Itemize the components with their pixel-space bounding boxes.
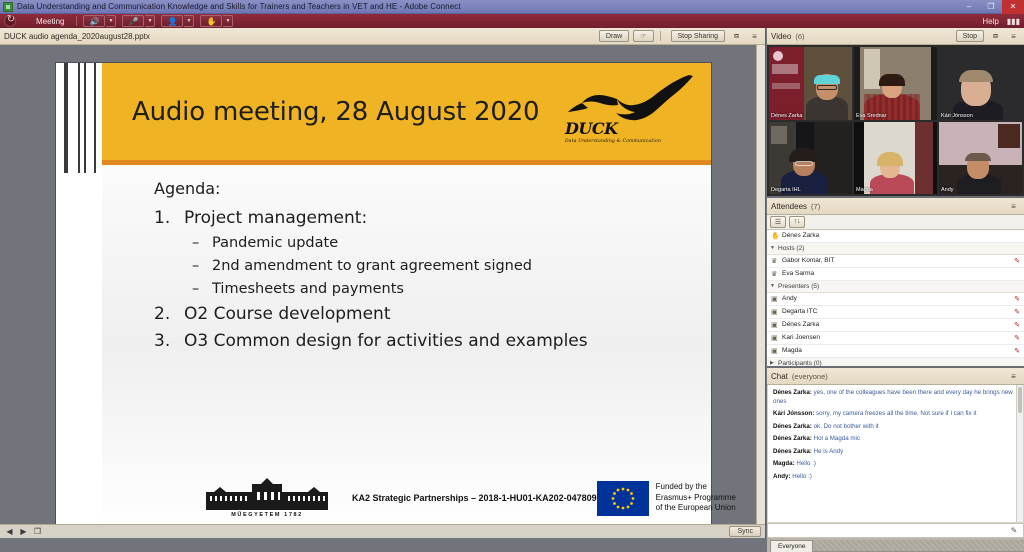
slide-title-band: Audio meeting, 28 August 2020 DUCK Data …: [102, 63, 711, 160]
stop-sharing-button[interactable]: Stop Sharing: [671, 30, 725, 42]
chat-pod-menu-icon[interactable]: ≡: [1007, 370, 1020, 382]
chat-pod-title: Chat: [771, 372, 788, 381]
chat-message-sender: Dénes Zarka:: [773, 423, 812, 430]
presenter-icon: ▣: [771, 321, 782, 329]
video-tile[interactable]: Degarta IHL: [769, 122, 852, 195]
chat-message-sender: Dénes Zarka:: [773, 435, 812, 442]
pen-icon: ✎: [1014, 347, 1020, 355]
attendee-row[interactable]: ♛ Gábor Komar, BIT ✎: [767, 255, 1024, 268]
sync-button[interactable]: Sync: [729, 526, 761, 537]
attendees-toolbar: ☰ ↑↓: [767, 215, 1024, 230]
speaker-volume-icon[interactable]: 🔊: [83, 15, 105, 27]
attendee-sort-icon[interactable]: ↑↓: [789, 216, 805, 228]
pen-icon: ✎: [1014, 295, 1020, 303]
chat-message-sender: Magda:: [773, 460, 795, 467]
slide-body: Agenda: 1. Project management: – Pandemi…: [102, 165, 711, 524]
slide-headline: Audio meeting, 28 August 2020: [132, 97, 539, 127]
close-button[interactable]: ✕: [1002, 0, 1024, 14]
presentation-slide[interactable]: Audio meeting, 28 August 2020 DUCK Data …: [56, 63, 711, 524]
chat-tab-everyone[interactable]: Everyone: [770, 540, 813, 552]
attendee-name: Andy: [782, 295, 797, 302]
agenda-item-text: O2 Course development: [184, 304, 391, 324]
chat-tab-bar: Everyone: [767, 538, 1024, 552]
attendee-self-row[interactable]: ✋ Dénes Zarka: [767, 230, 1024, 243]
agenda-item-text: O3 Common design for activities and exam…: [184, 331, 588, 351]
agenda-sublist: – Pandemic update – 2nd amendment to gra…: [192, 235, 711, 297]
eu-flag-icon: [597, 481, 649, 516]
share-pod-menu-icon[interactable]: ≡: [748, 30, 761, 42]
presenter-icon: ▣: [771, 295, 782, 303]
share-pod-scrollbar[interactable]: [756, 45, 765, 524]
video-pod-menu-icon[interactable]: ≡: [1007, 30, 1020, 42]
connection-signal-icon: ▮▮▮: [1007, 17, 1020, 26]
eu-funding-line-1: Funded by the: [656, 482, 736, 493]
slide-footer: MŰEGYETEM 1782 KA2 Strategic Partnership…: [148, 476, 705, 520]
window-title-bar: Data Understanding and Communication Kno…: [0, 0, 1024, 14]
dash-icon: –: [192, 281, 212, 297]
chat-message-list[interactable]: Dénes Zarka: yes, one of the colleagues …: [767, 385, 1024, 523]
attendee-group-participants[interactable]: ▶ Participants (0): [767, 358, 1024, 366]
attendee-name: Eva Sarma: [782, 270, 814, 277]
attendee-group-label: Hosts (2): [778, 245, 804, 252]
webcam-chevron-down-icon[interactable]: ▼: [184, 15, 194, 27]
slide-notes-icon[interactable]: ❐: [32, 526, 43, 537]
send-icon[interactable]: ✎: [1008, 526, 1020, 535]
agenda-subitem-text: Timesheets and payments: [212, 281, 404, 297]
share-pod-body: Audio meeting, 28 August 2020 DUCK Data …: [0, 45, 765, 524]
attendee-row[interactable]: ♛ Eva Sarma: [767, 268, 1024, 281]
chat-message: Dénes Zarka: He is Andy: [773, 448, 1018, 457]
share-pod-header: DUCK audio agenda_2020august28.pptx Draw…: [0, 28, 765, 45]
agenda-item-number: 2.: [154, 304, 184, 324]
header-divider: [660, 31, 661, 41]
attendees-count: (7): [811, 202, 820, 211]
chevron-down-icon: ▼: [770, 245, 778, 251]
attendee-row[interactable]: ▣ Andy ✎: [767, 293, 1024, 306]
draw-button[interactable]: Draw: [599, 30, 629, 42]
agenda-list: 1. Project management: – Pandemic update…: [154, 208, 711, 351]
duck-wordmark: DUCK: [565, 119, 617, 138]
video-tile-name: Eva Srednar: [856, 113, 887, 119]
video-tile-name: Degarta IHL: [771, 187, 801, 193]
meeting-stage: DUCK audio agenda_2020august28.pptx Draw…: [0, 28, 1024, 552]
chat-message-sender: Andy:: [773, 473, 791, 480]
duck-logo: DUCK Data Understanding & Communication: [557, 69, 697, 155]
minimize-button[interactable]: –: [958, 0, 980, 14]
video-tile[interactable]: Eva Srednar: [854, 47, 937, 120]
video-tile-name: Andy: [941, 187, 954, 193]
bme-wordmark: MŰEGYETEM 1782: [204, 512, 330, 518]
agenda-item-number: 3.: [154, 331, 184, 351]
agenda-subitem-text: 2nd amendment to grant agreement signed: [212, 258, 532, 274]
chat-message-sender: Dénes Zarka:: [773, 448, 812, 455]
window-controls: – ❐ ✕: [958, 0, 1024, 14]
share-pod: DUCK audio agenda_2020august28.pptx Draw…: [0, 28, 766, 538]
raise-hand-icon: ✋: [771, 232, 782, 240]
prev-slide-icon[interactable]: ◀: [4, 526, 15, 537]
fullscreen-icon[interactable]: ⧈: [730, 30, 743, 42]
presenter-icon: ▣: [771, 347, 782, 355]
help-link[interactable]: Help: [982, 17, 998, 26]
duck-tagline: Data Understanding & Communication: [565, 139, 661, 144]
agenda-item-number: 1.: [154, 208, 184, 228]
host-icon: ♛: [771, 270, 782, 278]
chat-message-text: Hol a Magda mic: [812, 435, 860, 442]
agenda-subitem-text: Pandemic update: [212, 235, 338, 251]
slide-accent-bars: [56, 63, 102, 173]
chat-message-sender: Dénes Zarka:: [773, 389, 812, 396]
pen-icon: ✎: [1014, 308, 1020, 316]
share-pod-footer: ◀ ▶ ❐ Sync: [0, 524, 765, 538]
chevron-down-icon: ▼: [770, 283, 778, 289]
chat-message: Dénes Zarka: yes, one of the colleagues …: [773, 389, 1018, 406]
next-slide-icon[interactable]: ▶: [18, 526, 29, 537]
attendee-group-label: Participants (0): [778, 360, 822, 366]
eu-funding-text: Funded by the Erasmus+ Programme of the …: [656, 482, 736, 514]
chat-pod: Chat (everyone) ≡ Dénes Zarka: yes, one …: [767, 368, 1024, 552]
chat-input[interactable]: [771, 525, 1008, 536]
agenda-item-text: Project management:: [184, 208, 367, 228]
video-pod: Video (6) Stop ⧈ ≡ Dénes Z: [767, 28, 1024, 198]
video-tile-name: Kári Jónsson: [941, 113, 973, 119]
eu-funding-line-3: of the European Union: [656, 503, 736, 514]
chat-message-text: ok. Do not bother with it: [812, 423, 879, 430]
agenda-subitem: – 2nd amendment to grant agreement signe…: [192, 258, 711, 274]
chat-message-text: Hello :): [795, 460, 816, 467]
dash-icon: –: [192, 258, 212, 274]
chat-message: Magda: Hello :): [773, 460, 1018, 469]
chat-tab-filler: [813, 540, 1024, 552]
project-code: KA2 Strategic Partnerships – 2018-1-HU01…: [352, 493, 597, 503]
agenda-label: Agenda:: [154, 179, 711, 198]
agenda-item: 3. O3 Common design for activities and e…: [154, 331, 711, 351]
attendees-list[interactable]: ✋ Dénes Zarka ▼ Hosts (2) ♛ Gábor Komar,…: [767, 230, 1024, 366]
attendee-row[interactable]: ▣ Magda ✎: [767, 345, 1024, 358]
host-icon: ♛: [771, 257, 782, 265]
chat-pod-header: Chat (everyone) ≡: [767, 368, 1024, 385]
microphone-chevron-down-icon[interactable]: ▼: [145, 15, 155, 27]
video-tile-name: Dénes Zarka: [771, 113, 803, 119]
attendee-row[interactable]: ▣ Kari Joensen ✎: [767, 332, 1024, 345]
menu-item-meeting[interactable]: Meeting: [30, 17, 70, 26]
video-tile[interactable]: Kári Jónsson: [939, 47, 1022, 120]
bme-building-icon: MŰEGYETEM 1782: [204, 478, 330, 518]
agenda-item: 2. O2 Course development: [154, 304, 711, 324]
stop-webcam-button[interactable]: Stop: [956, 30, 984, 42]
chat-message-text: Hello :): [791, 473, 812, 480]
agenda-subitem: – Timesheets and payments: [192, 281, 711, 297]
pen-icon: ✎: [1014, 334, 1020, 342]
connect-menu-bar: Meeting 🔊 ▼ 🎤 ▼ 👤 ▼ ✋ ▼ Help ▮▮▮: [0, 14, 1024, 28]
right-pod-column: Video (6) Stop ⧈ ≡ Dénes Z: [767, 28, 1024, 552]
maximize-button[interactable]: ❐: [980, 0, 1002, 14]
video-pod-count: (6): [795, 32, 804, 41]
video-tile[interactable]: Magda: [854, 122, 937, 195]
share-pod-title: DUCK audio agenda_2020august28.pptx: [4, 32, 150, 41]
pen-icon: ✎: [1014, 257, 1020, 265]
agenda-subitem: – Pandemic update: [192, 235, 711, 251]
pen-icon: ✎: [1014, 321, 1020, 329]
chat-scrollbar[interactable]: [1016, 385, 1023, 522]
raise-hand-icon[interactable]: ✋: [200, 15, 222, 27]
attendee-name: Dénes Zarka: [782, 232, 819, 239]
video-tile-name: Magda: [856, 187, 873, 193]
menu-bar-right: Help ▮▮▮: [974, 17, 1024, 26]
video-tile-grid: Dénes Zarka Eva Srednar Kári Jón: [767, 45, 1024, 196]
attendee-view-icon[interactable]: ☰: [770, 216, 786, 228]
attendee-row[interactable]: ▣ Degarta ITC ✎: [767, 306, 1024, 319]
chat-message: Andy: Hello :): [773, 473, 1018, 482]
attendees-pod: Attendees (7) ≡ ☰ ↑↓ ✋ Dénes Zarka ▼ Hos…: [767, 198, 1024, 368]
attendee-name: Magda: [782, 347, 802, 354]
chat-message-text: sorry, my camera freezes all the time. N…: [814, 410, 976, 417]
attendee-name: Degarta ITC: [782, 308, 817, 315]
attendee-name: Gábor Komar, BIT: [782, 257, 834, 264]
video-tile[interactable]: Dénes Zarka: [769, 47, 852, 120]
attendee-group-presenters[interactable]: ▼ Presenters (5): [767, 281, 1024, 293]
video-pod-title: Video: [771, 32, 791, 41]
app-icon: [3, 2, 13, 12]
microphone-icon[interactable]: 🎤: [122, 15, 144, 27]
menu-divider: [76, 16, 77, 26]
speaker-chevron-down-icon[interactable]: ▼: [106, 15, 116, 27]
raise-hand-chevron-down-icon[interactable]: ▼: [223, 15, 233, 27]
presenter-icon: ▣: [771, 334, 782, 342]
video-tile[interactable]: Andy: [939, 122, 1022, 195]
dash-icon: –: [192, 235, 212, 251]
agenda-item: 1. Project management:: [154, 208, 711, 228]
chat-message: Dénes Zarka: ok. Do not bother with it: [773, 423, 1018, 432]
attendee-group-label: Presenters (5): [778, 283, 819, 290]
pointer-icon[interactable]: ☞: [633, 30, 653, 42]
eu-funding-line-2: Erasmus+ Programme: [656, 493, 736, 504]
chevron-right-icon: ▶: [770, 360, 778, 366]
attendee-name: Dénes Zarka: [782, 321, 819, 328]
attendees-pod-title: Attendees: [771, 202, 807, 211]
attendees-pod-menu-icon[interactable]: ≡: [1007, 200, 1020, 212]
attendee-name: Kari Joensen: [782, 334, 820, 341]
window-title: Data Understanding and Communication Kno…: [17, 2, 461, 11]
chat-input-row[interactable]: ✎: [767, 523, 1024, 538]
chat-message-sender: Kári Jónsson:: [773, 410, 814, 417]
eu-funding-block: Funded by the Erasmus+ Programme of the …: [597, 481, 736, 516]
adobe-connect-logo-icon: [4, 15, 16, 27]
video-fullscreen-icon[interactable]: ⧈: [989, 30, 1002, 42]
chat-message: Kári Jónsson: sorry, my camera freezes a…: [773, 410, 1018, 419]
presenter-icon: ▣: [771, 308, 782, 316]
attendees-pod-header: Attendees (7) ≡: [767, 198, 1024, 215]
webcam-icon[interactable]: 👤: [161, 15, 183, 27]
chat-scope: (everyone): [792, 372, 828, 381]
video-pod-header: Video (6) Stop ⧈ ≡: [767, 28, 1024, 45]
attendee-group-hosts[interactable]: ▼ Hosts (2): [767, 243, 1024, 255]
attendee-row[interactable]: ▣ Dénes Zarka ✎: [767, 319, 1024, 332]
chat-message: Dénes Zarka: Hol a Magda mic: [773, 435, 1018, 444]
chat-message-text: He is Andy: [812, 448, 843, 455]
